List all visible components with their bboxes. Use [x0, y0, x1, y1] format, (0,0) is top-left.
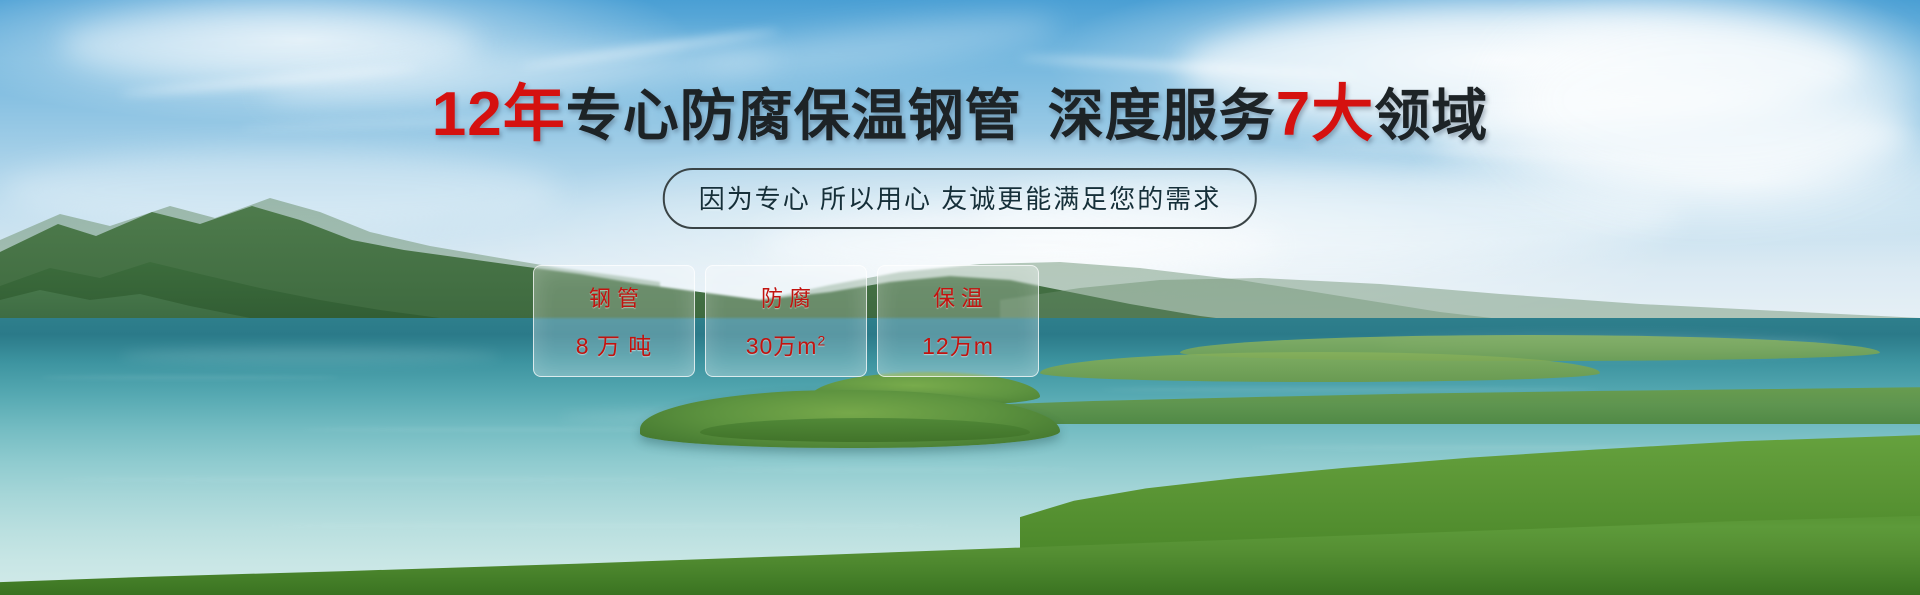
stat-value-text: 8 万 吨 — [576, 333, 653, 359]
stat-title: 保温 — [927, 281, 989, 313]
headline-main: 专心防腐保温钢管 — [566, 84, 1022, 147]
stats-row: 钢管 8 万 吨 防腐 30万m2 保温 12万m — [533, 265, 1039, 377]
headline-fields: 领域 — [1374, 84, 1488, 147]
stat-value: 30万m2 — [746, 327, 827, 361]
hero-banner: 12年专心防腐保温钢管深度服务7大领域 因为专心 所以用心 友诚更能满足您的需求… — [0, 0, 1920, 595]
headline-years: 12年 — [432, 80, 566, 149]
stat-value-text: 12万m — [922, 333, 994, 359]
headline-service: 深度服务 — [1048, 84, 1276, 147]
stat-title: 钢管 — [583, 281, 645, 313]
subtitle-pill: 因为专心 所以用心 友诚更能满足您的需求 — [663, 168, 1257, 229]
stat-title: 防腐 — [755, 281, 817, 313]
stat-card-insulation[interactable]: 保温 12万m — [877, 265, 1039, 377]
stat-value-sup: 2 — [817, 332, 826, 348]
headline: 12年专心防腐保温钢管深度服务7大领域 — [0, 84, 1920, 146]
headline-fields-count: 7大 — [1276, 80, 1374, 149]
stat-card-anticorrosion[interactable]: 防腐 30万m2 — [705, 265, 867, 377]
stat-value-text: 30万m — [746, 333, 818, 359]
stat-card-steel-pipe[interactable]: 钢管 8 万 吨 — [533, 265, 695, 377]
stat-value: 12万m — [922, 327, 994, 361]
stat-value: 8 万 吨 — [576, 327, 653, 361]
